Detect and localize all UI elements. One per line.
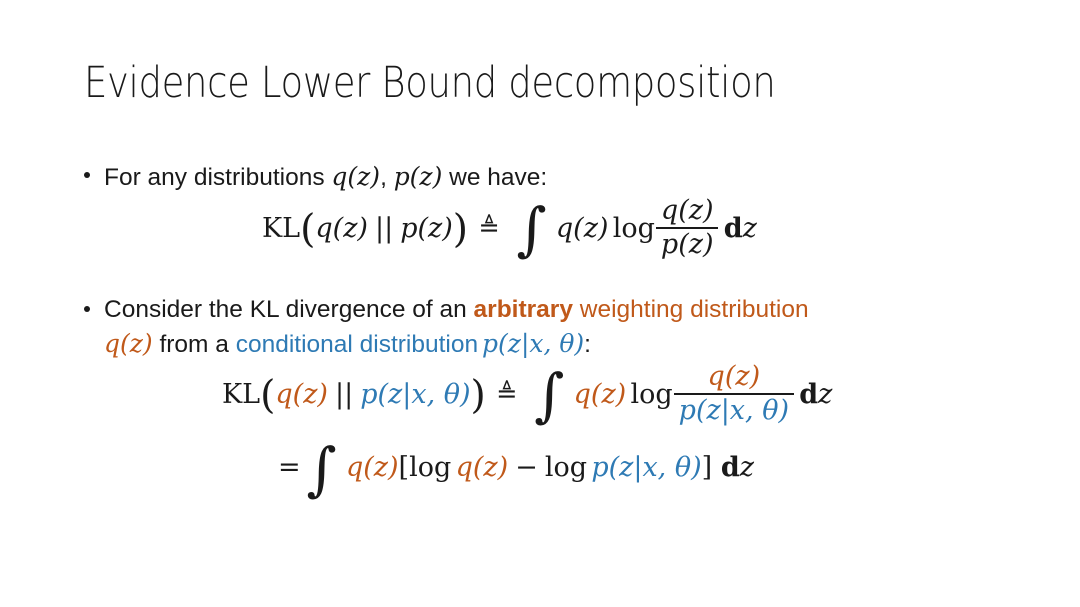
- eq2-close-paren: ): [471, 384, 486, 407]
- eq3-q-outer: q(z): [346, 452, 399, 483]
- eq1-log: log: [613, 213, 655, 244]
- eq2-triangleq-icon: ≜: [496, 379, 517, 409]
- eq3-equals: =: [278, 452, 301, 483]
- bullet-item-2: Consider the KL divergence of an arbitra…: [0, 294, 1080, 361]
- eq2-open-paren: (: [260, 384, 275, 407]
- bullet-1-text-a: For any distributions: [104, 164, 331, 191]
- eq3-q-inner: q(z): [456, 452, 509, 483]
- page-title: Evidence Lower Bound decomposition: [84, 58, 775, 108]
- eq1-fraction-numerator: q(z): [656, 196, 718, 227]
- equation-3: = ∫ q(z) [ log q(z) − log p(z|x, θ) ] dz: [278, 452, 754, 483]
- eq1-triangleq-icon: ≜: [478, 213, 499, 243]
- eq3-z: z: [740, 452, 754, 483]
- eq3-integral-icon: ∫: [306, 456, 336, 482]
- eq1-d: d: [724, 213, 743, 244]
- eq1-open-paren: (: [300, 218, 315, 241]
- bullet-2-emph-arbitrary: arbitrary: [474, 296, 573, 323]
- eq1-fraction: q(z) p(z): [656, 196, 718, 260]
- eq1-integrand-q: q(z): [556, 213, 609, 244]
- bullet-2-line-2: q(z) from a conditional distributionp(z|…: [104, 331, 591, 358]
- eq2-z: z: [818, 379, 832, 410]
- eq2-integral-icon: ∫: [534, 382, 564, 408]
- eq1-q: q(z): [315, 213, 368, 244]
- bullet-2-text-c: from a: [153, 331, 236, 358]
- eq3-log-2: log: [545, 452, 587, 483]
- slide: Evidence Lower Bound decomposition For a…: [0, 0, 1080, 607]
- eq2-fraction-denominator: p(z|x, θ): [674, 395, 794, 426]
- eq3-open-bracket: [: [399, 452, 410, 483]
- equation-1: KL ( q(z) || p(z) ) ≜ ∫ q(z) log q(z) p(…: [262, 196, 757, 260]
- eq2-integrand-q: q(z): [574, 379, 627, 410]
- eq2-fraction: q(z) p(z|x, θ): [674, 362, 794, 426]
- bullet-marker-icon: [84, 172, 90, 178]
- bullet-2-colon: :: [584, 331, 591, 358]
- eq1-p: p(z): [400, 213, 453, 244]
- eq2-double-bar: ||: [335, 379, 353, 410]
- bullet-1-math-p: p(z): [394, 162, 443, 191]
- eq3-p-inner: p(z|x, θ): [591, 452, 701, 483]
- eq3-d: d: [721, 452, 740, 483]
- eq1-differential: dz: [724, 213, 757, 244]
- bullet-1-math-q: q(z): [331, 162, 380, 191]
- bullet-2-math-p: p(z|x, θ): [482, 329, 584, 358]
- eq2-differential: dz: [799, 379, 832, 410]
- eq2-kl-label: KL: [222, 379, 260, 410]
- eq2-fraction-numerator: q(z): [703, 362, 765, 393]
- equation-2: KL ( q(z) || p(z|x, θ) ) ≜ ∫ q(z) log q(…: [222, 362, 832, 426]
- eq1-fraction-denominator: p(z): [656, 229, 718, 260]
- bullet-2-math-q: q(z): [104, 329, 153, 358]
- bullet-2-text-a: Consider the KL divergence of an: [104, 296, 474, 323]
- eq2-log: log: [631, 379, 673, 410]
- eq1-z: z: [743, 213, 757, 244]
- bullet-2-text-b: weighting distribution: [573, 296, 809, 323]
- bullet-item-1: For any distributions q(z), p(z) we have…: [0, 160, 1080, 195]
- eq2-p: p(z|x, θ): [360, 379, 470, 410]
- bullet-marker-icon: [84, 306, 90, 312]
- eq2-q: q(z): [275, 379, 328, 410]
- bullet-1-text-b: we have:: [442, 164, 547, 191]
- eq1-double-bar: ||: [375, 213, 393, 244]
- eq3-differential: dz: [721, 452, 754, 483]
- bullet-2-emph-conditional: conditional distribution: [236, 331, 478, 358]
- eq1-close-paren: ): [453, 218, 468, 241]
- eq1-kl-label: KL: [262, 213, 300, 244]
- bullet-2-line-1: Consider the KL divergence of an arbitra…: [104, 296, 809, 323]
- eq3-minus: −: [515, 452, 538, 483]
- bullet-1-comma: ,: [380, 164, 394, 191]
- eq1-integral-icon: ∫: [516, 216, 546, 242]
- bullet-1-line-1: For any distributions q(z), p(z) we have…: [104, 164, 547, 191]
- eq3-log-1: log: [409, 452, 451, 483]
- eq2-d: d: [799, 379, 818, 410]
- eq3-close-bracket: ]: [702, 452, 713, 483]
